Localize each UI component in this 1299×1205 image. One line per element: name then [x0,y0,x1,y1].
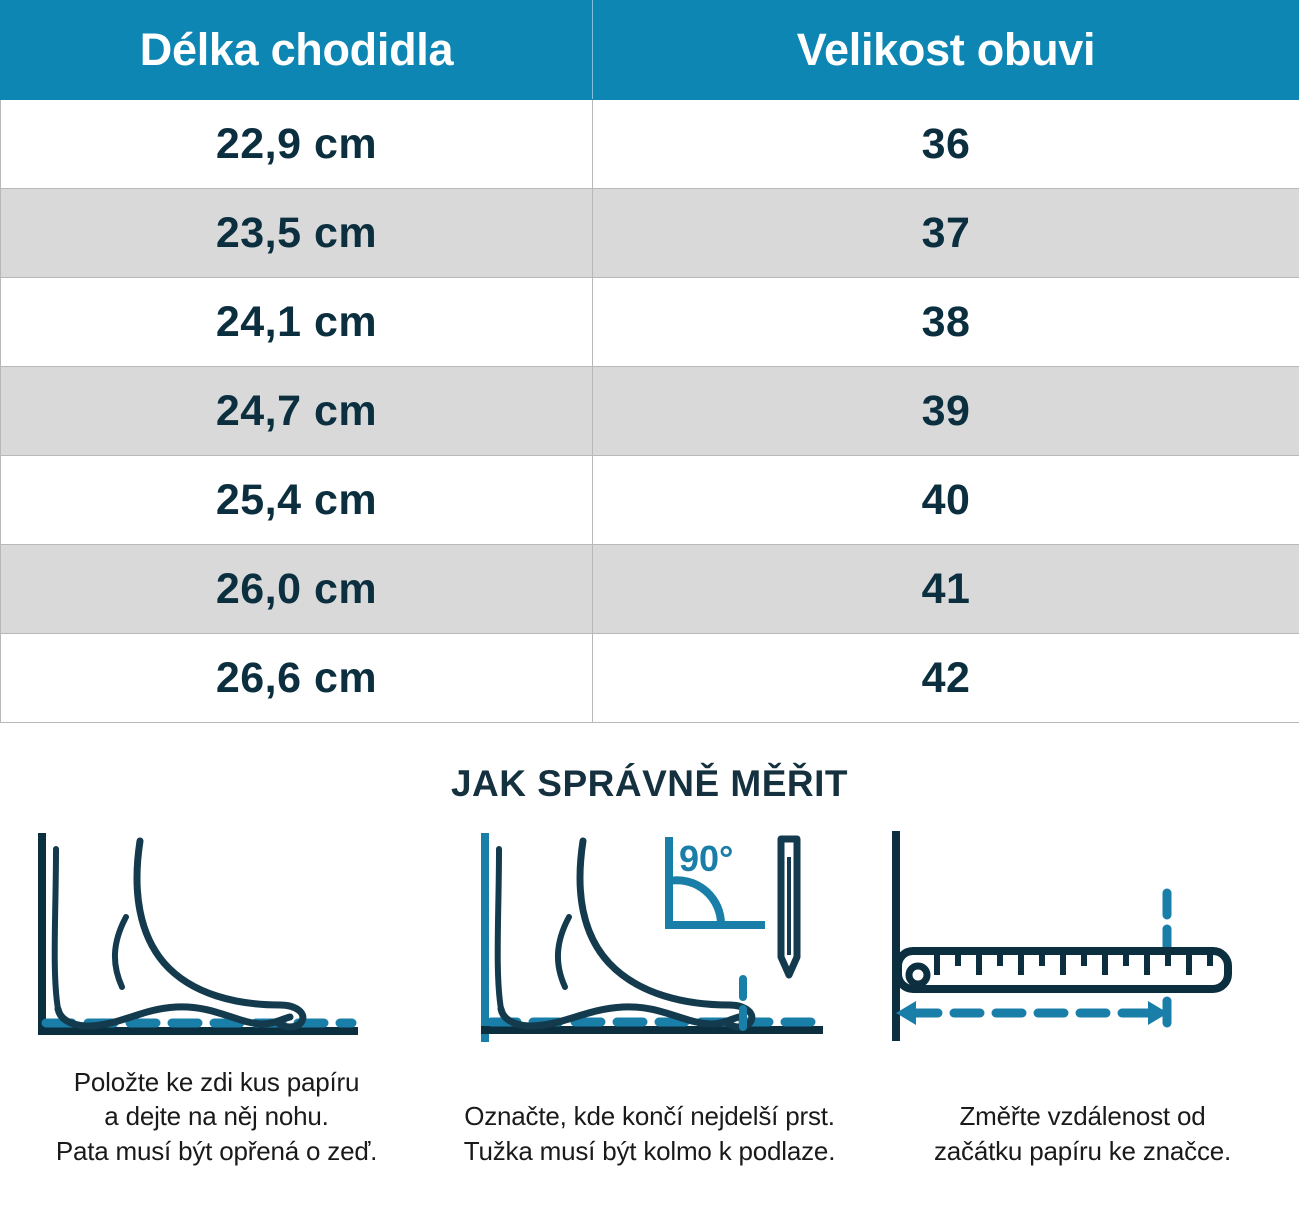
caption-cell-2: Označte, kde končí nejdelší prst. Tužka … [433,1048,866,1168]
ruler-measuring-distance-icon [866,823,1299,1048]
table-row: 25,4 cm 40 [1,456,1299,545]
howto-step-2-caption: Označte, kde končí nejdelší prst. Tužka … [464,1099,835,1168]
cell-shoe-size: 38 [593,278,1299,367]
cell-shoe-size: 42 [593,634,1299,723]
howto-step-3-caption: Změřte vzdálenost od začátku papíru ke z… [934,1099,1231,1168]
howto-step-2: 90° [433,823,866,1048]
cell-shoe-size: 40 [593,456,1299,545]
table-row: 26,6 cm 42 [1,634,1299,723]
cell-shoe-size: 39 [593,367,1299,456]
foot-against-wall-on-paper-icon [0,823,433,1048]
caption-cell-3: Změřte vzdálenost od začátku papíru ke z… [866,1048,1299,1168]
table-row: 22,9 cm 36 [1,100,1299,189]
right-angle-indicator: 90° [669,838,761,925]
howto-step-1 [0,823,433,1048]
shoe-size-chart-page: Délka chodidla Velikost obuvi 22,9 cm 36… [0,0,1299,1205]
howto-captions-row: Položte ke zdi kus papíru a dejte na něj… [0,1048,1299,1168]
angle-label: 90° [679,838,733,879]
caption-cell-1: Položte ke zdi kus papíru a dejte na něj… [0,1048,433,1168]
ruler-icon [898,951,1228,989]
foot-with-pencil-perpendicular-icon: 90° [433,823,866,1048]
howto-illustrations-row: 90° [0,823,1299,1048]
cell-foot-length: 26,6 cm [1,634,593,723]
cell-foot-length: 23,5 cm [1,189,593,278]
cell-shoe-size: 37 [593,189,1299,278]
measurement-arrow [896,1001,1168,1025]
cell-shoe-size: 41 [593,545,1299,634]
howto-section-title: JAK SPRÁVNĚ MĚŘIT [0,763,1299,805]
cell-foot-length: 22,9 cm [1,100,593,189]
table-row: 24,7 cm 39 [1,367,1299,456]
pencil-icon [781,839,797,975]
table-row: 26,0 cm 41 [1,545,1299,634]
cell-foot-length: 24,1 cm [1,278,593,367]
howto-step-3 [866,823,1299,1048]
table-header-row: Délka chodidla Velikost obuvi [1,1,1299,100]
cell-foot-length: 24,7 cm [1,367,593,456]
howto-step-1-caption: Položte ke zdi kus papíru a dejte na něj… [56,1065,377,1168]
column-header-foot-length: Délka chodidla [1,1,593,100]
column-header-shoe-size: Velikost obuvi [593,1,1299,100]
cell-shoe-size: 36 [593,100,1299,189]
table-row: 23,5 cm 37 [1,189,1299,278]
table-row: 24,1 cm 38 [1,278,1299,367]
cell-foot-length: 25,4 cm [1,456,593,545]
cell-foot-length: 26,0 cm [1,545,593,634]
shoe-size-table: Délka chodidla Velikost obuvi 22,9 cm 36… [0,0,1299,723]
